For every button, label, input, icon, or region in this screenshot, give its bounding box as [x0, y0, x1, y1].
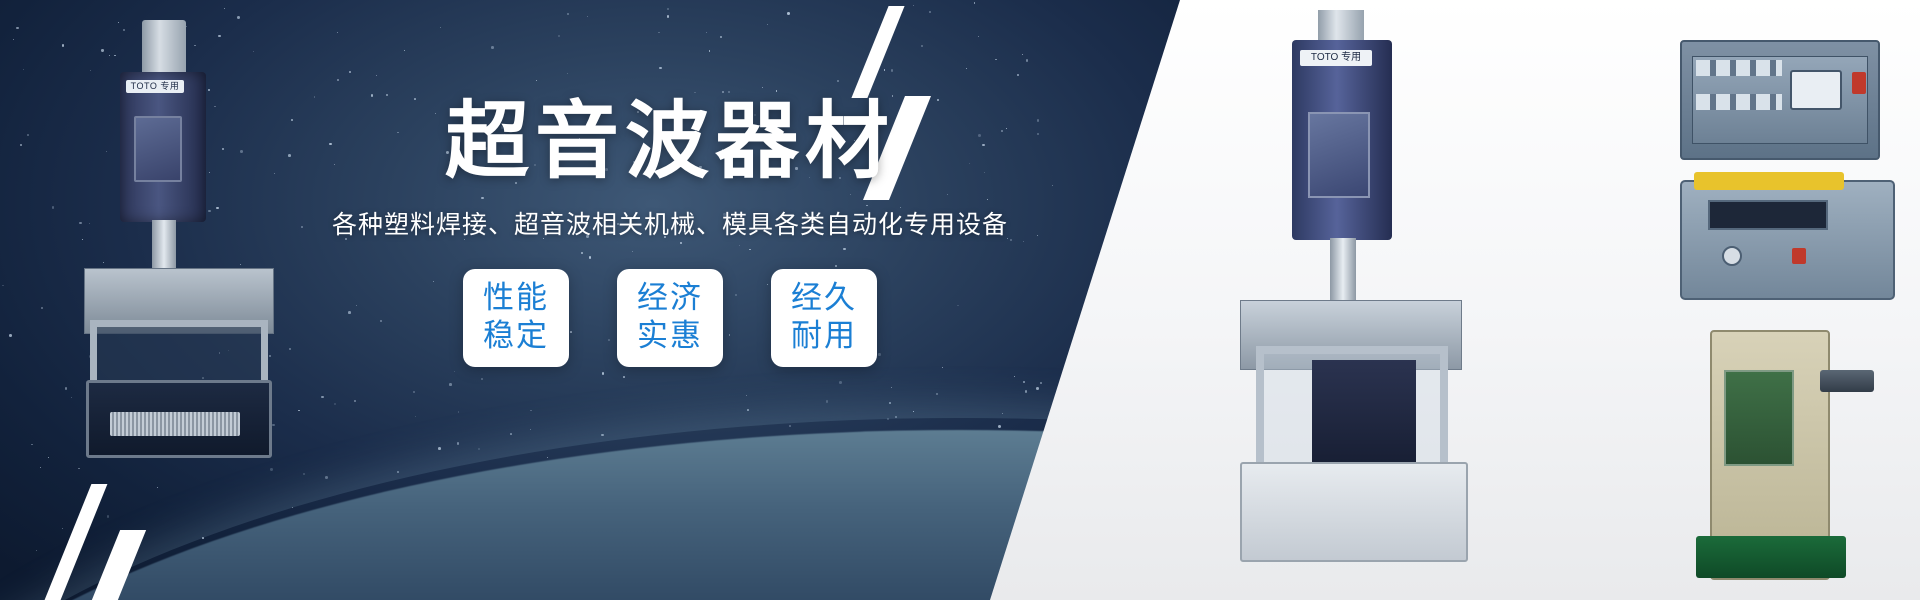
spot-welder-knob: [1722, 246, 1742, 266]
hero-banner: TOTO 专用 TOTO 专用: [0, 0, 1920, 600]
column-welder-actuator: [1820, 370, 1874, 392]
page-title: 超音波器材: [330, 96, 1010, 187]
badge-line-1: 经济: [637, 280, 703, 318]
spot-welder-display: [1708, 200, 1828, 230]
spot-welder-yellow-lid: [1694, 172, 1844, 190]
generator-indicator-row-1: [1696, 60, 1782, 76]
feature-badge-performance[interactable]: 性能 稳定: [463, 269, 569, 367]
welder-machine-main-image: TOTO 专用: [1240, 10, 1470, 570]
main-welder-base: [1240, 462, 1468, 562]
main-welder-brand-label: TOTO 专用: [1300, 50, 1372, 66]
welder-vent-grille: [110, 412, 240, 436]
column-welder-base: [1696, 536, 1846, 578]
spot-welder-button: [1792, 248, 1806, 264]
feature-badge-group: 性能 稳定 经济 实惠 经久 耐用: [330, 269, 1010, 367]
ultrasonic-generator-image: [1680, 40, 1880, 160]
hero-text-block: 超音波器材 各种塑料焊接、超音波相关机械、模具各类自动化专用设备 性能 稳定 经…: [330, 96, 1010, 367]
welder-sonotrode: [152, 220, 176, 272]
spot-welder-image: [1680, 180, 1895, 300]
badge-line-1: 性能: [483, 280, 549, 318]
main-welder-sonotrode: [1330, 238, 1356, 304]
page-subtitle: 各种塑料焊接、超音波相关机械、模具各类自动化专用设备: [330, 205, 1010, 241]
main-welder-dark-box: [1312, 360, 1416, 468]
feature-badge-economy[interactable]: 经济 实惠: [617, 269, 723, 367]
badge-line-2: 耐用: [791, 318, 857, 356]
welder-window: [134, 116, 182, 182]
badge-line-2: 稳定: [483, 318, 549, 356]
generator-power-switch: [1852, 72, 1866, 94]
feature-badge-durability[interactable]: 经久 耐用: [771, 269, 877, 367]
badge-line-1: 经久: [791, 280, 857, 318]
main-welder-window: [1308, 112, 1370, 198]
welder-column: [142, 20, 186, 80]
column-welder-image: [1690, 330, 1880, 580]
generator-analog-meter: [1790, 70, 1842, 110]
generator-indicator-row-2: [1696, 94, 1782, 110]
column-welder-control-panel: [1724, 370, 1794, 466]
welder-machine-left-image: TOTO 专用: [80, 20, 280, 460]
welder-brand-label: TOTO 专用: [126, 80, 184, 93]
badge-line-2: 实惠: [637, 318, 703, 356]
